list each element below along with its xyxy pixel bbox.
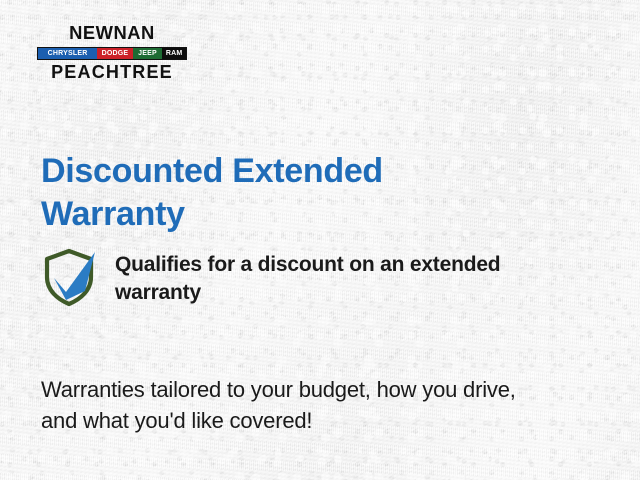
brand-chip-chrysler: CHRYSLER xyxy=(38,48,97,59)
feature-row: Qualifies for a discount on an extended … xyxy=(41,245,561,307)
shield-check-icon xyxy=(41,247,97,307)
logo-name-bottom: PEACHTREE xyxy=(36,63,188,81)
brand-chip-dodge: DODGE xyxy=(97,48,133,59)
page-title: Discounted Extended Warranty xyxy=(41,150,461,237)
brand-chip-ram: RAM xyxy=(162,48,186,59)
body-copy: Warranties tailored to your budget, how … xyxy=(41,374,541,436)
brand-strip: CHRYSLER DODGE JEEP RAM xyxy=(37,47,187,60)
logo-name-top: NEWNAN xyxy=(34,19,189,44)
dealer-logo: NEWNAN CHRYSLER DODGE JEEP RAM PEACHTREE xyxy=(36,19,188,81)
brand-chip-jeep: JEEP xyxy=(133,48,163,59)
promo-slide: NEWNAN CHRYSLER DODGE JEEP RAM PEACHTREE… xyxy=(0,0,640,480)
feature-text: Qualifies for a discount on an extended … xyxy=(115,245,561,306)
